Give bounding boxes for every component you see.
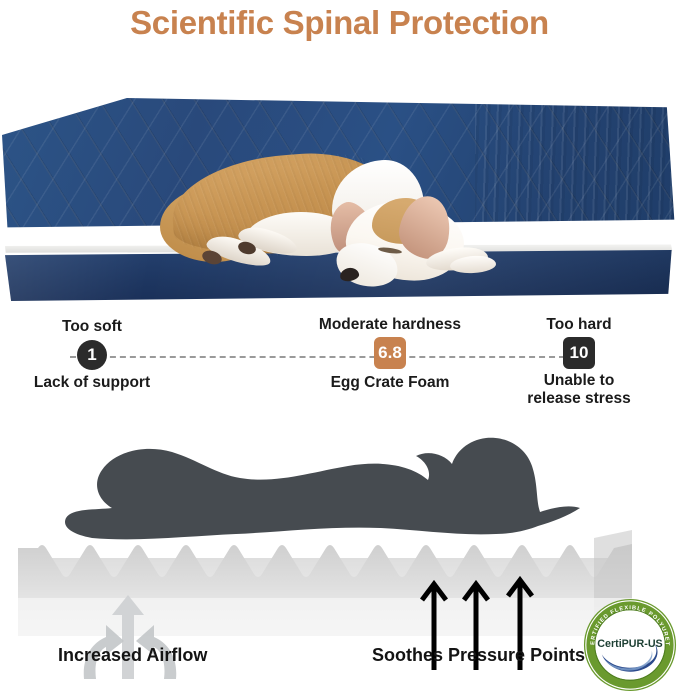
scale-bottom-label: Lack of support [18, 374, 166, 392]
soothes-pressure-points-label: Soothes Pressure Points [372, 645, 585, 666]
scale-bottom-label: Egg Crate Foam [300, 374, 480, 392]
scale-top-label: Too soft [18, 318, 166, 336]
scale-point-too-soft: Too soft 1 Lack of support [18, 318, 166, 392]
certipur-us-logo: CONTAINS CERTIFIED FLEXIBLE POLYURETHANE… [583, 598, 677, 692]
scale-point-too-hard: Too hard 10 Unable to release stress [503, 316, 655, 408]
hero-product-photo [0, 46, 679, 301]
scale-badge-10: 10 [563, 337, 595, 369]
dog-silhouette [40, 430, 600, 560]
scale-badge-68: 6.8 [374, 337, 406, 369]
dog-bed [0, 98, 679, 301]
scale-bottom-label-line2: release stress [503, 390, 655, 408]
airflow-arrow-group [70, 579, 190, 684]
scale-top-label: Too hard [503, 316, 655, 334]
scale-top-label: Moderate hardness [300, 316, 480, 334]
certipur-us-seal: CONTAINS CERTIFIED FLEXIBLE POLYURETHANE… [583, 598, 677, 692]
dog-photo [150, 152, 540, 302]
scale-badge-1: 1 [77, 340, 107, 370]
dog-silhouette-shape [40, 430, 600, 560]
increased-airflow-label: Increased Airflow [58, 645, 207, 666]
scale-bottom-label-line1: Unable to [503, 372, 655, 390]
seal-brand-text: CertiPUR-US [597, 638, 662, 650]
scale-point-moderate: Moderate hardness 6.8 Egg Crate Foam [300, 316, 480, 392]
airflow-arrows [70, 579, 190, 684]
page-title: Scientific Spinal Protection [0, 0, 679, 46]
